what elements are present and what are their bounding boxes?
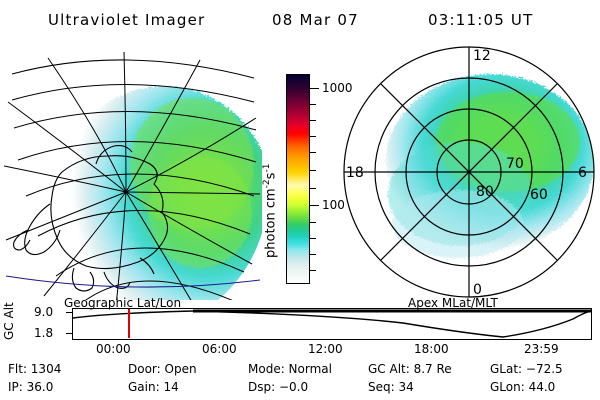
colorbar[interactable] (286, 74, 310, 284)
status-door: Door: Open (128, 362, 197, 376)
status-glat: GLat: −72.5 (490, 362, 563, 376)
header-bar: Ultraviolet Imager 08 Mar 07 03:11:05 UT (0, 6, 600, 34)
colorbar-tick-minor (309, 104, 316, 105)
mlat-label-60: 60 (530, 187, 548, 203)
orbit-altitude-plot[interactable] (72, 308, 592, 340)
status-flight: Flt: 1304 (8, 362, 61, 376)
colorbar-tick-100 (309, 205, 319, 206)
mlt-label-12: 12 (473, 48, 491, 64)
current-time-marker[interactable] (128, 309, 130, 338)
observation-time: 03:11:05 UT (428, 11, 533, 29)
mlt-label-6: 6 (578, 165, 587, 181)
status-row-top: Flt: 1304 Door: Open Mode: Normal GC Alt… (0, 362, 600, 380)
status-row-bottom: IP: 36.0 Gain: 14 Dsp: −0.0 Seq: 34 GLon… (0, 380, 600, 398)
geographic-plot-svg (4, 44, 262, 300)
mlt-label-18: 18 (346, 165, 364, 181)
orbit-x-label-3: 18:00 (414, 342, 449, 356)
magnetic-plot[interactable]: 12 18 6 0 60 70 80 (340, 44, 598, 300)
orbit-y-axis-title: GC Alt (2, 326, 16, 340)
colorbar-tick-minor (309, 222, 316, 223)
colorbar-unit-mid: s (263, 173, 278, 180)
orbit-x-label-0: 00:00 (96, 342, 131, 356)
colorbar-gradient (287, 75, 309, 283)
orbit-x-label-4: 23:59 (524, 342, 559, 356)
colorbar-tick-minor (309, 270, 316, 271)
colorbar-tick-minor (309, 152, 316, 153)
mlt-spokes (344, 47, 594, 297)
mlat-label-80: 80 (476, 184, 494, 200)
orbit-y-label-high: 9.0 (34, 305, 53, 319)
aurora-emission-geographic (54, 86, 262, 300)
status-dsp: Dsp: −0.0 (248, 380, 308, 394)
status-block: Flt: 1304 Door: Open Mode: Normal GC Alt… (0, 360, 600, 400)
status-glon: GLon: 44.0 (490, 380, 555, 394)
colorbar-unit-sup1: -2 (262, 179, 272, 188)
colorbar-tick-minor (309, 188, 316, 189)
colorbar-axis-title: photon cm-2s-1 (262, 242, 278, 258)
colorbar-unit-sup2: -1 (262, 164, 272, 173)
orbit-altitude-curve-descending (193, 311, 591, 337)
geographic-plot[interactable] (4, 44, 262, 300)
magnetic-plot-svg: 12 18 6 0 60 70 80 (340, 44, 598, 300)
colorbar-tick-minor (309, 120, 316, 121)
orbit-altitude-svg (73, 309, 591, 339)
orbit-x-label-1: 06:00 (202, 342, 237, 356)
status-seq: Seq: 34 (368, 380, 414, 394)
orbit-x-label-2: 12:00 (308, 342, 343, 356)
colorbar-unit-main: photon cm (263, 188, 278, 258)
status-ip: IP: 36.0 (8, 380, 53, 394)
page-title: Ultraviolet Imager (48, 11, 205, 29)
colorbar-tick-minor (309, 136, 316, 137)
status-mode: Mode: Normal (248, 362, 332, 376)
status-gain: Gain: 14 (128, 380, 179, 394)
status-gc-alt: GC Alt: 8.7 Re (368, 362, 452, 376)
colorbar-tick-minor (309, 254, 316, 255)
orbit-y-label-low: 1.8 (34, 326, 53, 340)
observation-date: 08 Mar 07 (272, 11, 359, 29)
colorbar-tick-1000 (309, 88, 319, 89)
colorbar-tick-minor (309, 238, 316, 239)
mlat-label-70: 70 (506, 156, 524, 172)
colorbar-tick-minor (309, 170, 316, 171)
